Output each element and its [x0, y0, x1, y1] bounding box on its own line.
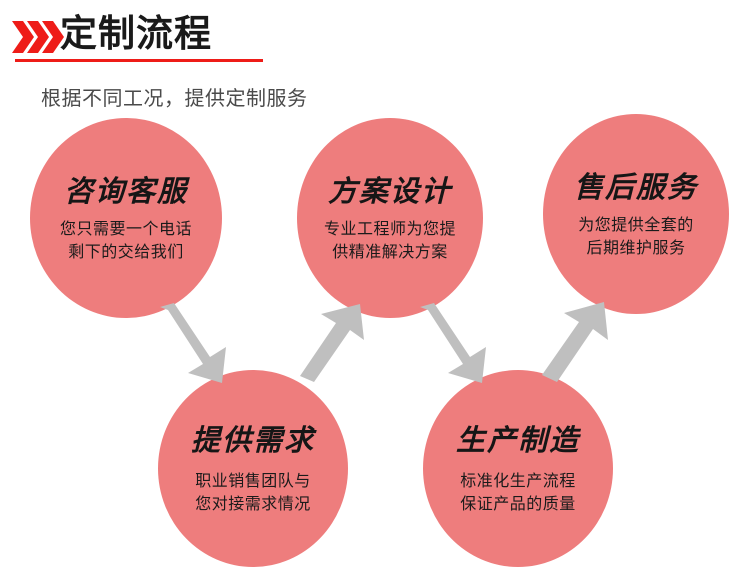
flow-step-circle-manufacturing[interactable]: 生产制造 标准化生产流程 保证产品的质量 [423, 370, 613, 567]
flow-step-description-line1: 标准化生产流程 [460, 469, 576, 492]
flow-step-description: 职业销售团队与 您对接需求情况 [195, 469, 311, 515]
flow-step-description-line1: 职业销售团队与 [195, 469, 311, 492]
flow-step-description-line1: 为您提供全套的 [578, 213, 694, 236]
title-underline-rule [15, 59, 263, 62]
flow-step-description-line1: 您只需要一个电话 [60, 217, 192, 240]
customization-process-infographic: 定制流程 根据不同工况，提供定制服务 咨询客服 您只需要一个电话 剩下的交给我们… [0, 0, 750, 576]
triple-chevron-right-icon [12, 20, 64, 54]
flow-step-description-line2: 后期维护服务 [578, 236, 694, 259]
flow-step-description: 为您提供全套的 后期维护服务 [578, 213, 694, 259]
page-title: 定制流程 [60, 11, 212, 57]
flow-step-description: 标准化生产流程 保证产品的质量 [460, 469, 576, 515]
flow-step-description-line2: 保证产品的质量 [460, 492, 576, 515]
arrow-down-right-icon [152, 303, 232, 383]
flow-step-circle-design[interactable]: 方案设计 专业工程师为您提 供精准解决方案 [297, 118, 483, 318]
flow-step-description-line2: 您对接需求情况 [195, 492, 311, 515]
flow-step-title: 方案设计 [328, 174, 452, 208]
flow-step-circle-requirements[interactable]: 提供需求 职业销售团队与 您对接需求情况 [158, 370, 348, 567]
flow-step-circle-consultation[interactable]: 咨询客服 您只需要一个电话 剩下的交给我们 [30, 118, 222, 318]
flow-step-description: 您只需要一个电话 剩下的交给我们 [60, 217, 192, 263]
flow-step-description-line2: 供精准解决方案 [324, 240, 456, 263]
flow-step-description: 专业工程师为您提 供精准解决方案 [324, 217, 456, 263]
flow-step-title: 售后服务 [574, 170, 698, 204]
flow-step-description-line1: 专业工程师为您提 [324, 217, 456, 240]
flow-step-title: 咨询客服 [64, 174, 188, 208]
flow-step-circle-after-sales[interactable]: 售后服务 为您提供全套的 后期维护服务 [543, 114, 729, 314]
arrow-up-right-icon [530, 298, 612, 382]
flow-step-title: 生产制造 [456, 423, 580, 457]
page-subtitle: 根据不同工况，提供定制服务 [41, 82, 308, 111]
flow-step-title: 提供需求 [191, 423, 315, 457]
arrow-up-right-icon [288, 300, 368, 382]
flow-step-description-line2: 剩下的交给我们 [60, 240, 192, 263]
arrow-down-right-icon [412, 303, 492, 383]
